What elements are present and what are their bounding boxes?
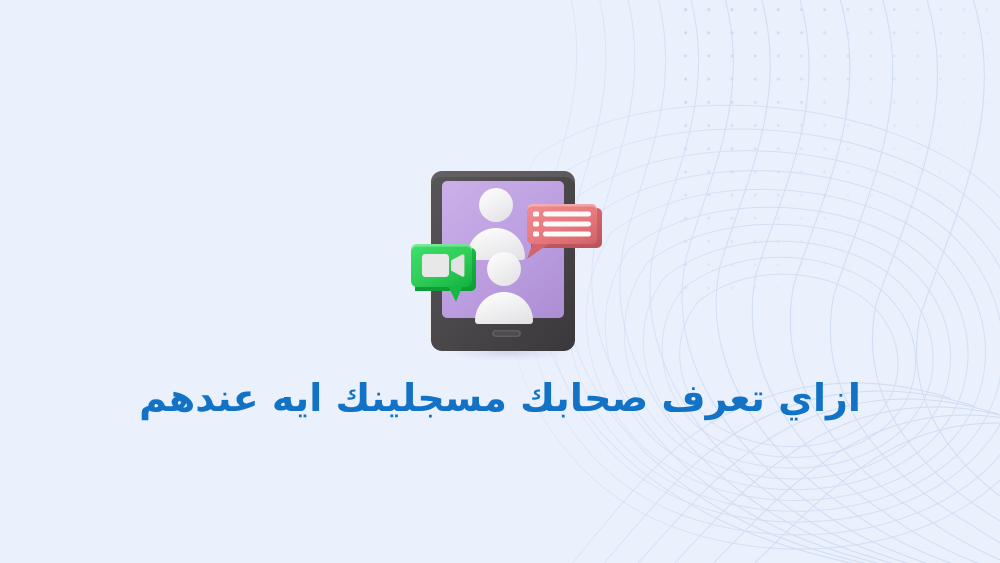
phone-video-chat-3d [409,162,604,362]
dot-grid [670,0,1000,294]
video-camera-icon [422,254,464,277]
home-button-inner [494,332,519,336]
page-title: ازاي تعرف صحابك مسجلينك ايه عندهم [0,375,1000,423]
thumbnail-canvas: ازاي تعرف صحابك مسجلينك ايه عندهم [0,0,1000,563]
